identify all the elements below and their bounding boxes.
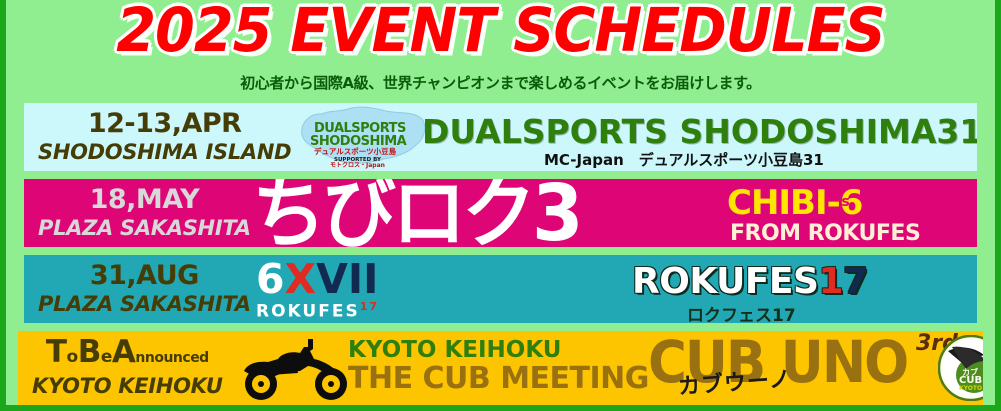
svg-text:KYOTO KEIHOKU: KYOTO KEIHOKU: [959, 385, 983, 392]
event-date-tba: ToBeAnnounced: [46, 337, 209, 373]
motorcycle-silhouette-icon: [234, 337, 354, 403]
event-row-dualsports[interactable]: 12-13,APR SHODOSHIMA ISLAND DUALSPORTS S…: [24, 103, 977, 171]
event-date-block: 18,MAY PLAZA SAKASHITA: [24, 179, 251, 247]
rokufes-logo-marks: 6XVII: [256, 259, 416, 300]
tba-t: T: [46, 334, 67, 370]
logo-mark-6: 6: [256, 255, 285, 303]
tba-a: A: [112, 334, 136, 370]
page-subtitle: 初心者から国際A級、世界チャンピオンまで楽しめるイベントをお届けします。: [6, 72, 995, 93]
event-date-block: 12-13,APR SHODOSHIMA ISLAND: [24, 103, 291, 171]
event-title: DUALSPORTS SHODOSHIMA31: [422, 112, 977, 151]
event-place: PLAZA SAKASHITA: [38, 215, 251, 241]
logo-word-num: 17: [360, 300, 379, 313]
event-title-superscript: s: [841, 194, 848, 210]
event-place: SHODOSHIMA ISLAND: [38, 139, 291, 165]
event-date-block: ToBeAnnounced KYOTO KEIHOKU: [18, 331, 223, 405]
event-title: CHIBI-6s: [727, 183, 870, 223]
event-schedule-banner: 2025 EVENT SCHEDULES 初心者から国際A級、世界チャンピオンま…: [0, 0, 1001, 411]
rokufes-6xvii-logo: 6XVII ROKUFES17: [256, 259, 416, 321]
event-title-text: ROKUFES: [632, 261, 818, 302]
event-title-line2: THE CUB MEETING: [348, 361, 649, 396]
rokufes-logo-word: ROKUFES17: [256, 300, 416, 322]
tba-nnounced: nnounced: [135, 350, 208, 366]
event-subtitle: ロクフェス17: [687, 301, 796, 323]
event-title-line1: KYOTO KEIHOKU: [348, 337, 561, 363]
logo-mark-x: X: [285, 255, 317, 303]
logo-word-text: ROKUFES: [256, 302, 360, 322]
tba-o: o: [67, 347, 78, 367]
event-title-num-1: 1: [818, 261, 843, 302]
event-subtitle: MC-Japan デュアルスポーツ小豆島31: [544, 149, 824, 170]
event-date-block: 31,AUG PLAZA SAKASHITA: [24, 255, 251, 323]
event-place: PLAZA SAKASHITA: [38, 291, 251, 317]
chibiroku-japanese-logo: ちびロク3: [252, 179, 580, 247]
event-title-num-7: 7: [843, 261, 868, 302]
event-row-cubuno[interactable]: ToBeAnnounced KYOTO KEIHOKU KYOTO KEIHOK…: [18, 331, 983, 405]
cubuno-circular-badge-icon: カブ CUB KYOTO KEIHOKU: [938, 335, 983, 401]
svg-text:モトクロス・Japan: モトクロス・Japan: [330, 161, 385, 169]
event-row-chibi6[interactable]: 18,MAY PLAZA SAKASHITA ちびロク3 CHIBI-6s FR…: [24, 179, 977, 247]
logo-mark-vii: VII: [316, 255, 378, 303]
banner-header: 2025 EVENT SCHEDULES 初心者から国際A級、世界チャンピオンま…: [6, 0, 995, 100]
tba-b: B: [78, 334, 101, 370]
event-place: KYOTO KEIHOKU: [32, 373, 223, 399]
svg-text:デュアルスポーツ小豆島: デュアルスポーツ小豆島: [314, 146, 397, 156]
event-date: 12-13,APR: [88, 109, 242, 139]
event-subtitle: FROM ROKUFES: [730, 221, 920, 246]
event-date: 31,AUG: [90, 261, 199, 291]
page-title: 2025 EVENT SCHEDULES: [0, 0, 1001, 65]
event-row-rokufes17[interactable]: 31,AUG PLAZA SAKASHITA 6XVII ROKUFES17 R…: [24, 255, 977, 323]
event-title: ROKUFES17: [632, 261, 868, 302]
event-date: 18,MAY: [90, 185, 200, 215]
tba-e: e: [101, 347, 112, 367]
shodoshima-map-icon: DUALSPORTS SHODOSHIMA デュアルスポーツ小豆島 SUPPOR…: [296, 105, 428, 169]
